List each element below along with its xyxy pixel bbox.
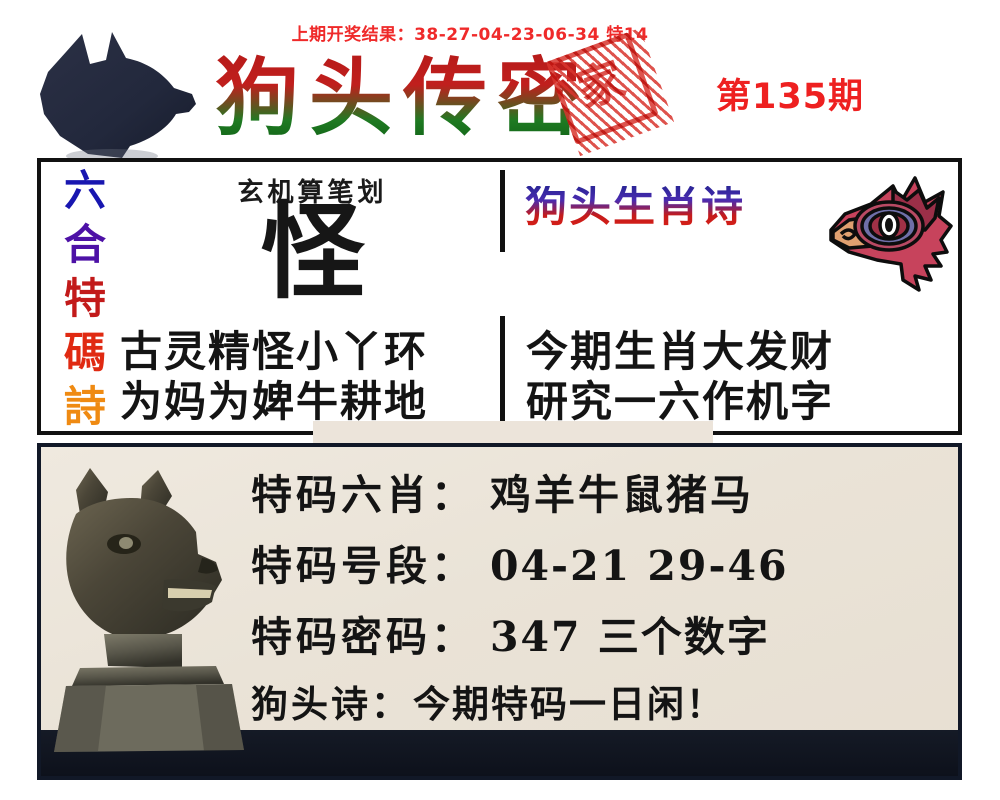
vertical-title-char-4: 詩: [64, 386, 106, 428]
tribal-dog-head-icon: [815, 168, 963, 300]
prediction-row: 特码六肖： 鸡羊牛鼠猪马: [251, 461, 951, 521]
bronze-dog-head-statue-icon: [46, 462, 271, 762]
row-label-2: 特码密码：: [251, 603, 476, 663]
prediction-row: 狗头诗： 今期特码一日闲！: [251, 674, 951, 728]
center-big-character: 怪: [195, 196, 430, 308]
row-value-0: 鸡羊牛鼠猪马: [490, 461, 754, 521]
vertical-title-char-1: 合: [64, 224, 106, 266]
row-label-3: 狗头诗：: [251, 674, 411, 728]
prediction-row: 特码密码： 347 三个数字: [251, 603, 951, 663]
poem-left-line-1: 古灵精怪小丫环: [120, 327, 428, 377]
page-title: 狗头传密: [215, 45, 635, 150]
issue-number: 第135期: [716, 68, 864, 119]
panel-divider-top: [500, 170, 505, 252]
poem-right-line-2: 研究一六作机字: [526, 377, 834, 427]
prediction-lines: 特码六肖： 鸡羊牛鼠猪马 特码号段： 04-21 29-46 特码密码： 347…: [251, 461, 951, 739]
vertical-title-char-0: 六: [64, 170, 106, 212]
row-value-3: 今期特码一日闲！: [413, 674, 725, 728]
row-value-2: 347 三个数字: [490, 603, 770, 663]
poem-right: 今期生肖大发财 研究一六作机字: [526, 327, 834, 426]
vertical-title: 六 合 特 碼 詩: [52, 170, 118, 428]
draw-result-label: 上期开奖结果：: [292, 25, 415, 45]
poem-left: 古灵精怪小丫环 为妈为婢牛耕地: [120, 327, 428, 426]
vertical-title-char-2: 特: [64, 278, 106, 320]
dog-head-silhouette-icon: [26, 16, 212, 162]
row-label-1: 特码号段：: [251, 532, 476, 592]
panel-divider-bottom: [500, 316, 505, 429]
row-value-1: 04-21 29-46: [490, 542, 789, 590]
vertical-title-char-3: 碼: [64, 332, 106, 374]
lottery-poster: 上期开奖结果：38-27-04-23-06-34 特14 狗头传密 家 第135…: [0, 0, 1000, 800]
bottom-panel: 特码六肖： 鸡羊牛鼠猪马 特码号段： 04-21 29-46 特码密码： 347…: [37, 443, 962, 780]
poem-left-line-2: 为妈为婢牛耕地: [120, 377, 428, 427]
prediction-row: 特码号段： 04-21 29-46: [251, 532, 951, 592]
poem-right-line-1: 今期生肖大发财: [526, 327, 834, 377]
draw-result-numbers: 38-27-04-23-06-34: [414, 25, 600, 45]
draw-result-special: 特14: [606, 25, 648, 45]
row-label-0: 特码六肖：: [251, 461, 476, 521]
zodiac-poem-heading: 狗头生肖诗: [525, 186, 745, 228]
